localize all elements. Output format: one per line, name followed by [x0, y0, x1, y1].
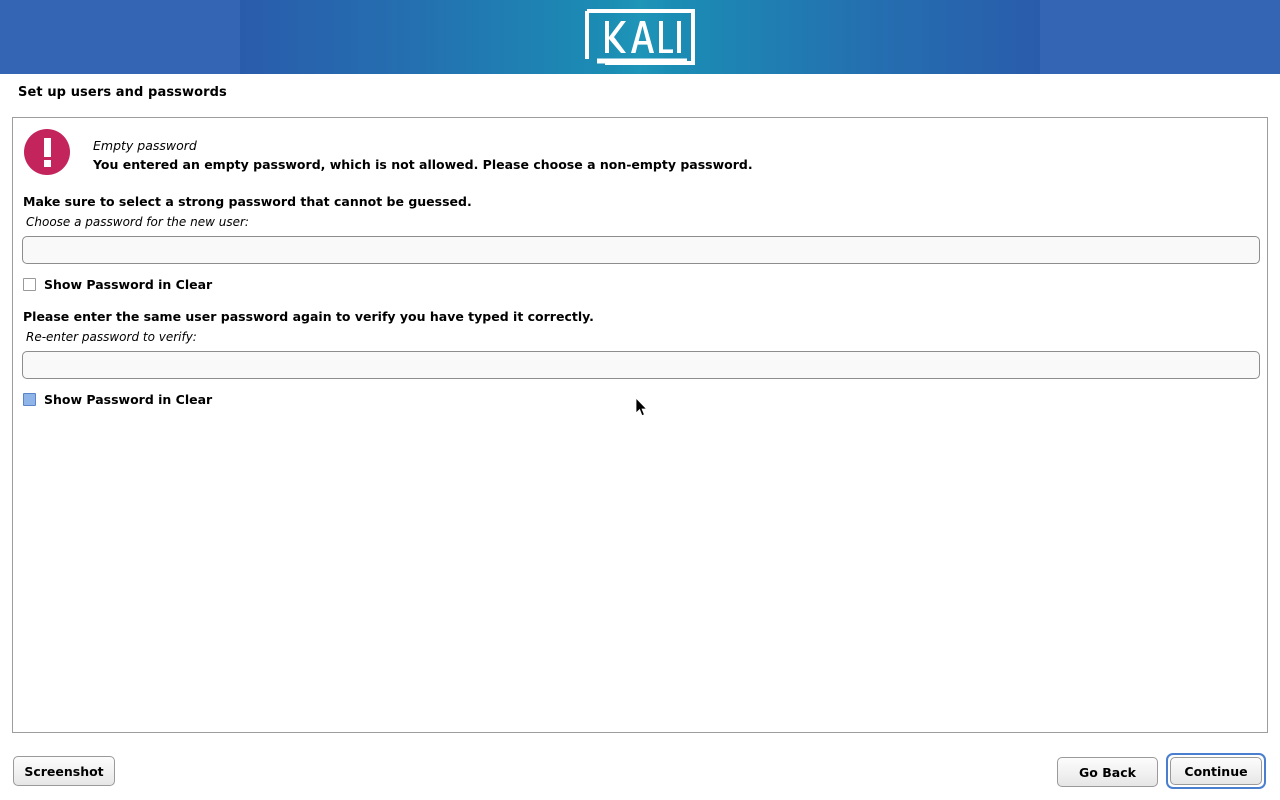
error-title: Empty password — [93, 138, 197, 153]
continue-button[interactable]: Continue — [1170, 757, 1262, 785]
continue-button-focus-ring: Continue — [1166, 753, 1266, 789]
screenshot-button[interactable]: Screenshot — [13, 756, 115, 786]
kali-logo-icon — [583, 7, 697, 67]
show-password-clear-row-2[interactable]: Show Password in Clear — [23, 392, 212, 407]
show-password-clear-checkbox-1[interactable] — [23, 278, 36, 291]
error-exclamation-icon — [24, 129, 70, 175]
password-section-heading: Make sure to select a strong password th… — [23, 194, 472, 209]
exclamation-stem — [44, 138, 51, 157]
show-password-clear-row-1[interactable]: Show Password in Clear — [23, 277, 212, 292]
kali-header-banner — [0, 0, 1280, 74]
exclamation-dot — [44, 160, 51, 167]
go-back-button[interactable]: Go Back — [1057, 757, 1158, 787]
page-title: Set up users and passwords — [18, 85, 227, 100]
error-message: You entered an empty password, which is … — [93, 157, 753, 172]
show-password-clear-label-2: Show Password in Clear — [44, 392, 212, 407]
verify-field-label: Re-enter password to verify: — [26, 330, 197, 344]
verify-password-input[interactable] — [22, 351, 1260, 379]
verify-section-heading: Please enter the same user password agai… — [23, 309, 594, 324]
password-field-label: Choose a password for the new user: — [26, 215, 249, 229]
show-password-clear-checkbox-2[interactable] — [23, 393, 36, 406]
main-content-panel: Empty password You entered an empty pass… — [12, 117, 1268, 733]
password-input[interactable] — [22, 236, 1260, 264]
show-password-clear-label-1: Show Password in Clear — [44, 277, 212, 292]
